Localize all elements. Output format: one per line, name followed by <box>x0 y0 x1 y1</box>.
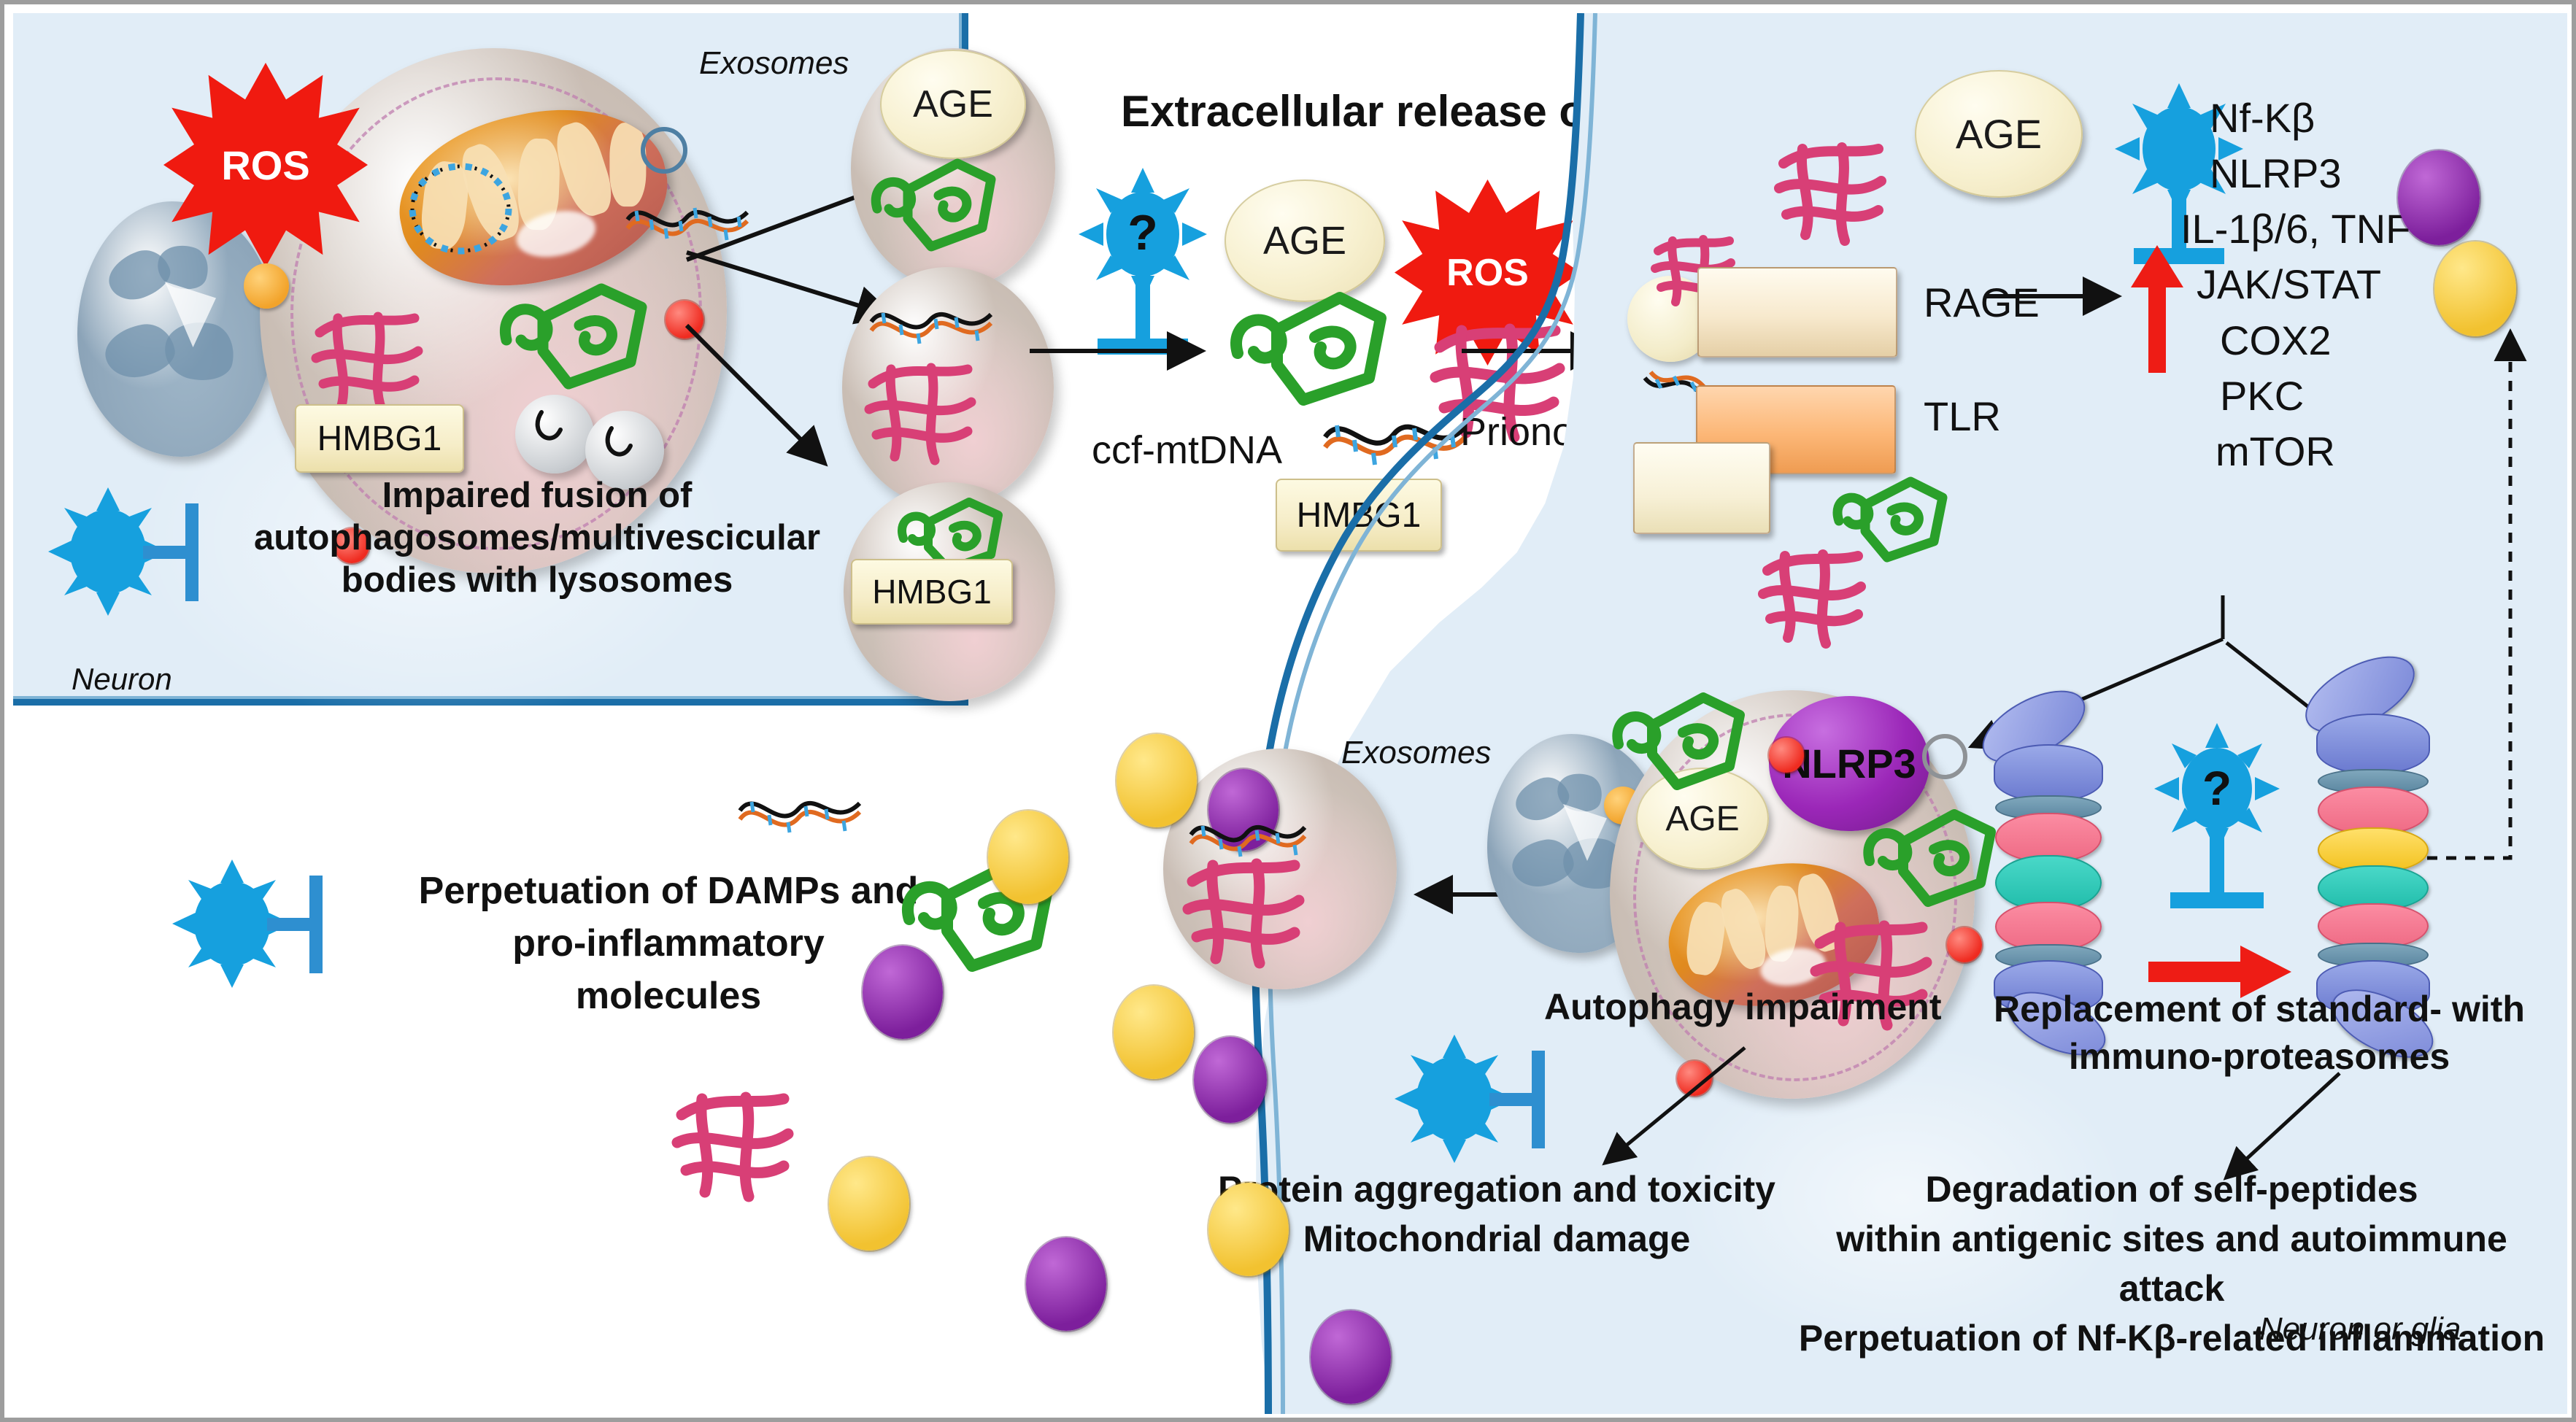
proteasome-caption-line-2: immuno-proteasomes <box>1967 1033 2551 1081</box>
yellow-granule-5 <box>1208 1183 1289 1276</box>
purple-granule-3 <box>1311 1310 1391 1404</box>
neuron-label: Neuron <box>72 661 172 698</box>
proteasome-caption-line-1: Replacement of standard- with <box>1967 986 2551 1033</box>
figure-canvas: Neuron Exosomes ROS <box>0 0 2576 1422</box>
signaling-molecule-list: Nf-Kβ NLRP3 IL-1β/6, TNF-α JAK/STAT COX2… <box>2210 90 2448 479</box>
signaling-item-nfkb: Nf-Kβ <box>2210 90 2448 146</box>
vesicle-gray-ring-right <box>1922 734 1967 779</box>
outcome-right-line-1: Degradation of self-peptides <box>1785 1164 2558 1214</box>
exosomes-label-right: Exosomes <box>1341 734 1491 772</box>
immuno-proteasome <box>2303 683 2449 1026</box>
alpha-synuclein-inside-right-cell <box>1829 464 1953 573</box>
vesicle-blue-ring-left <box>641 127 687 174</box>
tau-aggregate-exosome-2 <box>851 355 997 479</box>
ccf-mtdna-label: ccf-mtDNA <box>1092 428 1282 474</box>
ccf-mtdna-exosome-2 <box>865 293 997 358</box>
rage-receptor <box>1697 267 1897 358</box>
inhibition-marker-perpetuation <box>172 851 347 1004</box>
standard-proteasome <box>1982 712 2121 1033</box>
purple-granule-2 <box>1026 1237 1106 1331</box>
impaired-fusion-line-2: autophagosomes/multivescicular <box>238 517 836 560</box>
proteasome-unknown-marker-glyph: ? <box>2202 761 2232 815</box>
purple-granule-signaling <box>2398 150 2480 245</box>
signaling-item-cox2: COX2 <box>2220 313 2448 368</box>
perpetuation-line-1: Perpetuation of DAMPs and <box>377 865 960 918</box>
proteasome-caption: Replacement of standard- with immuno-pro… <box>1967 986 2551 1081</box>
ccf-mtdna-strand-left <box>622 190 753 256</box>
yellow-granule-1 <box>1117 734 1197 827</box>
signaling-item-jakstat: JAK/STAT <box>2197 257 2448 312</box>
yellow-granule-2 <box>988 811 1068 904</box>
tau-aggregate-in-exosome <box>1172 851 1325 982</box>
upregulation-arrow <box>2128 245 2186 376</box>
yellow-granule-4 <box>829 1157 909 1251</box>
alpha-synuclein-coil-exosome-1 <box>865 143 1004 267</box>
yellow-granule-signaling <box>2434 241 2516 336</box>
impaired-fusion-line-1: Impaired fusion of <box>238 475 836 517</box>
inhibition-marker-impaired-fusion <box>48 479 223 632</box>
tau-aggregate-scattered <box>661 1084 814 1216</box>
impaired-fusion-line-3: bodies with lysosomes <box>238 560 836 602</box>
ccf-mtdna-strand-extracellular <box>1318 402 1471 482</box>
tau-aggregate-on-membrane-top <box>1763 136 1909 260</box>
unknown-marker-glyph: ? <box>1127 205 1158 260</box>
inhibition-marker-autophagy <box>1395 1026 1570 1179</box>
hmbg1-box-exosome-3: HMBG1 <box>851 559 1013 625</box>
hmbg1-box-extracellular: HMBG1 <box>1276 479 1442 552</box>
age-badge-right-cell-top: AGE <box>1915 70 2083 198</box>
inhibition-marker-proteasome: ? <box>2144 716 2290 935</box>
vesicle-red-right-b <box>1947 927 1982 962</box>
alpha-synuclein-coil-icon <box>492 267 660 413</box>
yellow-granule-3 <box>1114 986 1194 1079</box>
vesicle-red-left-a <box>666 301 703 339</box>
accessory-receptor-box <box>1633 442 1770 534</box>
impaired-fusion-caption: Impaired fusion of autophagosomes/multiv… <box>238 475 836 601</box>
vesicle-red-right-c <box>1677 1061 1712 1096</box>
signaling-item-mtor: mTOR <box>2216 424 2448 479</box>
tlr-label: TLR <box>1924 393 2001 441</box>
hmbg1-box-left-cell: HMBG1 <box>295 404 464 473</box>
vesicle-red-right-a <box>1769 738 1804 773</box>
signaling-item-pkc: PKC <box>2220 368 2448 424</box>
alpha-synuclein-right-upper <box>1607 676 1753 807</box>
exosomes-label-left: Exosomes <box>699 45 849 82</box>
ccf-mtdna-scattered <box>734 781 865 847</box>
rage-label: RAGE <box>1924 279 2040 327</box>
outcome-right-line-3: Perpetuation of Nf-Kβ-related inflammati… <box>1785 1313 2558 1363</box>
autophagy-impairment-label: Autophagy impairment <box>1544 986 1941 1029</box>
outcome-right-line-2: within antigenic sites and autoimmune at… <box>1785 1214 2558 1313</box>
inhibition-marker-unknown-mechanism: ? <box>1070 158 1216 376</box>
purple-granule-1 <box>863 946 943 1039</box>
outcome-right-caption: Degradation of self-peptides within anti… <box>1785 1164 2558 1363</box>
tau-aggregate-icon <box>298 304 436 420</box>
lysosome-left <box>77 201 274 457</box>
vesicle-orange-left <box>244 263 289 309</box>
purple-granule-4 <box>1194 1037 1267 1123</box>
mtdna-loop-icon <box>398 150 537 274</box>
